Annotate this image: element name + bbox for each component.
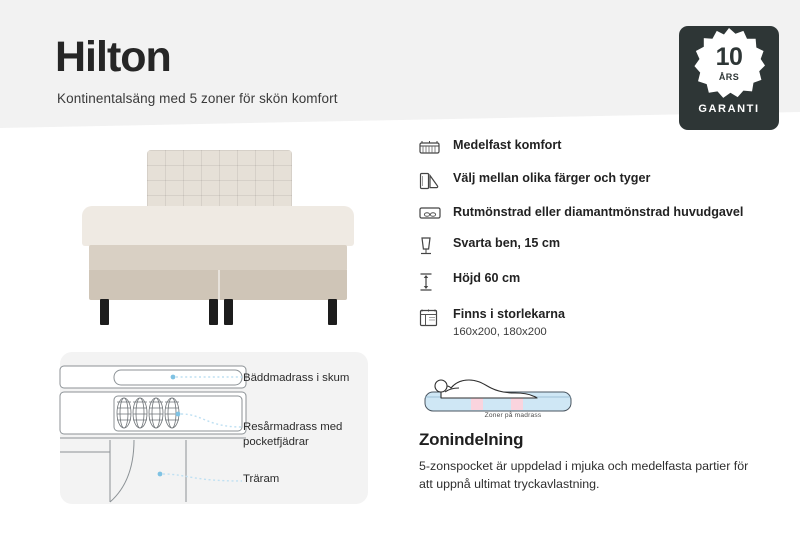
zoning-illustration [419,366,579,416]
bed-headboard [147,150,292,208]
bed-leg [100,299,109,325]
guarantee-badge: 10 ÅRS GARANTI [679,26,779,130]
page-subtitle: Kontinentalsäng med 5 zoner för skön kom… [57,91,338,106]
bed-mattress [82,206,354,246]
feature-item-height: Höjd 60 cm [419,271,779,292]
badge-number: 10 [716,45,743,70]
feature-item-sizes: Finns i storlekarna 160x200, 180x200 [419,307,779,340]
fabric-swatch-icon [419,171,453,190]
product-info-sheet: Hilton Kontinentalsäng med 5 zoner för s… [0,0,800,533]
pocket-spring-layer [60,392,246,434]
zoning-description: 5-zonspocket är uppdelad i mjuka och med… [419,458,749,493]
feature-item-legs: Svarta ben, 15 cm [419,236,779,255]
feature-label: Höjd 60 cm [453,271,520,287]
starburst-icon: 10 ÅRS [693,33,765,95]
wood-frame-layer [60,438,246,502]
feature-label: Välj mellan olika färger och tyger [453,171,650,187]
feature-label: Rutmönstrad eller diamantmönstrad huvudg… [453,205,743,221]
cross-section-label: Bäddmadrass i skum [243,371,349,386]
feature-item-fabrics: Välj mellan olika färger och tyger [419,171,779,190]
mattress-comfort-icon [419,138,453,155]
bed-leg-icon [419,236,453,255]
feature-item-comfort: Medelfast komfort [419,138,779,155]
badge-years-label: ÅRS [719,73,739,82]
feature-label: Medelfast komfort [453,138,561,154]
bed-leg [328,299,337,325]
feature-label: Finns i storlekarna [453,307,565,323]
feature-label: Svarta ben, 15 cm [453,236,560,252]
cross-section-label: Träram [243,472,279,487]
feature-item-headboard: Rutmönstrad eller diamantmönstrad huvudg… [419,205,779,221]
product-photo [72,150,362,340]
bed-base-upper [89,245,347,271]
bed-leg [209,299,218,325]
badge-guarantee-label: GARANTI [698,103,759,115]
feature-sublabel: 160x200, 180x200 [453,325,565,340]
zoning-caption: Zoner på madrass [443,412,583,419]
zoning-title: Zonindelning [419,430,523,450]
bed-base-lower [89,270,347,300]
bed-size-icon [419,307,453,328]
feature-list: Medelfast komfort Välj mellan olika färg… [419,138,779,355]
cross-section-label: Resårmadrass med pocketfjädrar [243,420,393,450]
height-arrow-icon [419,271,453,292]
page-title: Hilton [55,36,171,79]
zoning-section: Zoner på madrass Zonindelning 5-zonspock… [419,366,779,421]
bed-leg [224,299,233,325]
headboard-icon [419,205,453,220]
